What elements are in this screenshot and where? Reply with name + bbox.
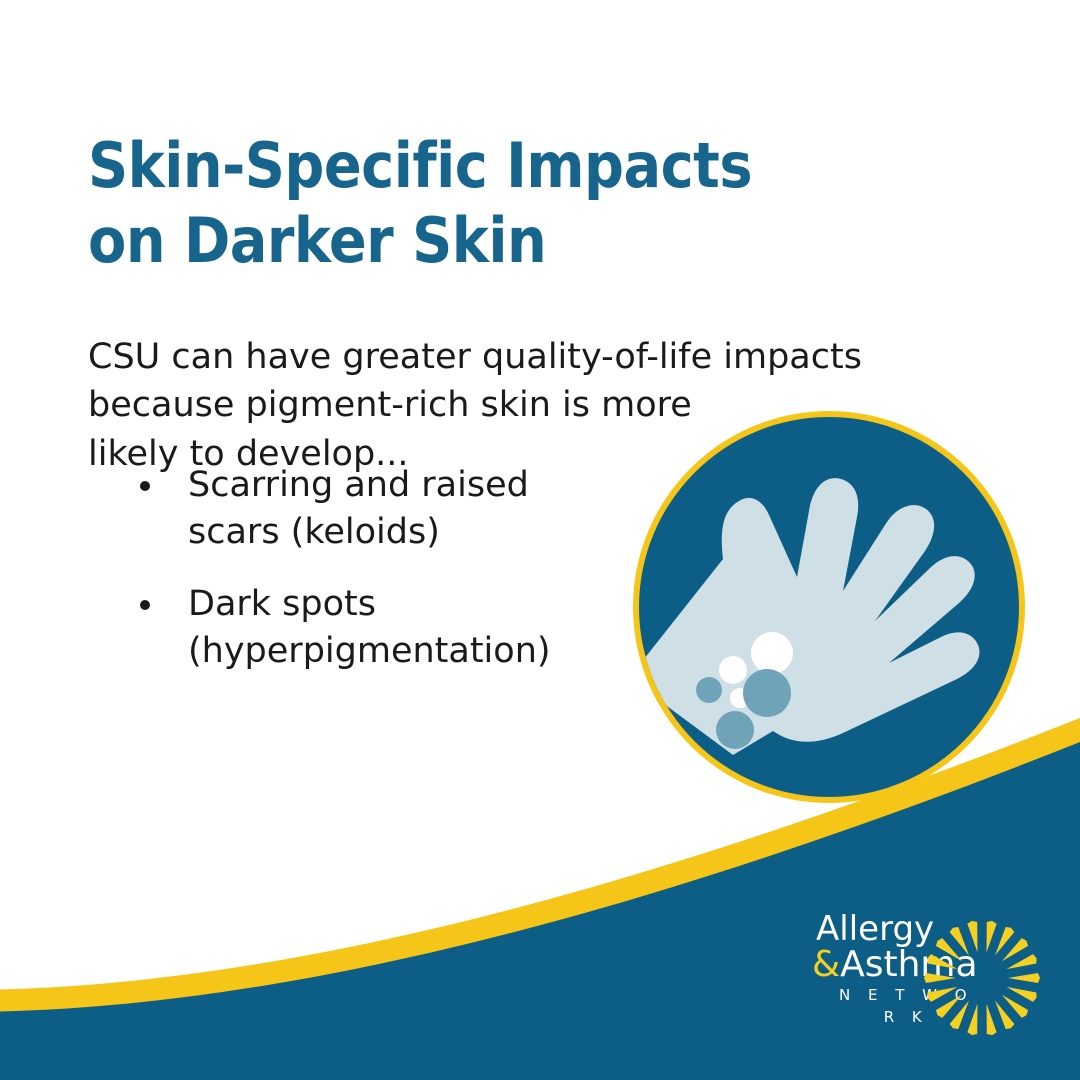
spot-blue-large (743, 669, 791, 717)
bullet-dot-icon (140, 600, 150, 610)
list-item-text: Dark spots (hyperpigmentation) (188, 581, 610, 674)
list-item: Scarring and raised scars (keloids) (140, 462, 610, 555)
page-title: Skin-Specific Impacts on Darker Skin (88, 128, 808, 279)
list-item-line-1: Dark spots (188, 581, 610, 628)
sunburst-icon (918, 914, 1046, 1042)
page-title-line-1: Skin-Specific Impacts (88, 128, 808, 204)
list-item-text: Scarring and raised scars (keloids) (188, 462, 610, 555)
bullet-dot-icon (140, 481, 150, 491)
infographic-canvas: Skin-Specific Impacts on Darker Skin CSU… (0, 0, 1080, 1080)
impacts-list: Scarring and raised scars (keloids) Dark… (140, 462, 610, 700)
brand-logo-ampersand: & (812, 944, 840, 985)
hand-with-spots-icon (627, 405, 1031, 809)
brand-logo: Allergy &Asthma N E T W O R K (812, 912, 1052, 1032)
list-item: Dark spots (hyperpigmentation) (140, 581, 610, 674)
list-item-line-1: Scarring and raised (188, 462, 610, 509)
sunburst-petals (924, 920, 1040, 1036)
list-item-line-2: scars (keloids) (188, 509, 610, 556)
list-item-line-2: (hyperpigmentation) (188, 628, 610, 675)
intro-line-1: CSU can have greater quality-of-life imp… (88, 333, 928, 381)
page-title-line-2: on Darker Skin (88, 203, 808, 279)
spot-white-medium (719, 656, 747, 684)
spot-blue-medium (696, 677, 722, 703)
spot-white-large (751, 632, 793, 674)
spot-blue-small (716, 711, 754, 749)
